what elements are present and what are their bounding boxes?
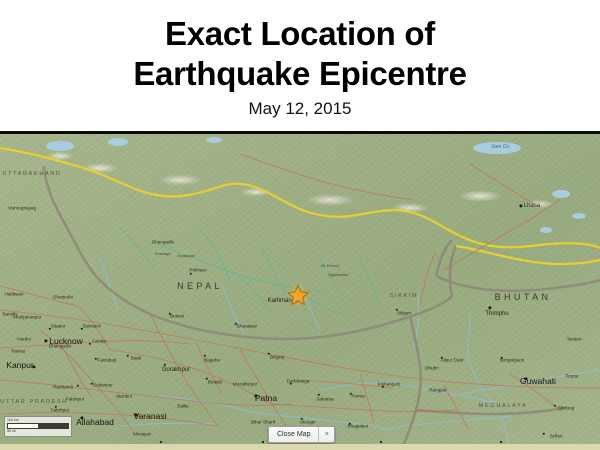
close-map-widget[interactable]: Close Map × — [268, 426, 335, 443]
map-tick — [380, 441, 382, 443]
page-subtitle-date: May 12, 2015 — [0, 94, 600, 120]
close-map-button[interactable]: Close Map — [269, 427, 319, 442]
epicenter-star-icon — [287, 284, 309, 306]
epicenter-marker[interactable] — [287, 284, 309, 306]
scale-label-mi: 50 mi — [7, 429, 69, 434]
map-scale-bar: 100 km 50 mi — [4, 416, 72, 437]
map-tick — [160, 441, 162, 443]
close-icon[interactable]: × — [319, 427, 334, 442]
map-frame[interactable]: NEPAL BHUTAN UTTARAKHAND UTTAR PRADESH M… — [0, 131, 600, 450]
nepal-streams — [118, 226, 380, 316]
slide-header: Exact Location of Earthquake Epicentre M… — [0, 0, 600, 128]
rivers — [98, 254, 600, 444]
page-title-line-1: Exact Location of — [0, 0, 600, 54]
map-tick — [500, 441, 502, 443]
border-india-china — [0, 148, 600, 264]
map-tick — [262, 441, 264, 443]
map-canvas[interactable]: NEPAL BHUTAN UTTARAKHAND UTTAR PRADESH M… — [0, 134, 600, 444]
page-title-line-2: Earthquake Epicentre — [0, 54, 600, 94]
slide-root: Exact Location of Earthquake Epicentre M… — [0, 0, 600, 450]
national-borders — [44, 166, 600, 444]
